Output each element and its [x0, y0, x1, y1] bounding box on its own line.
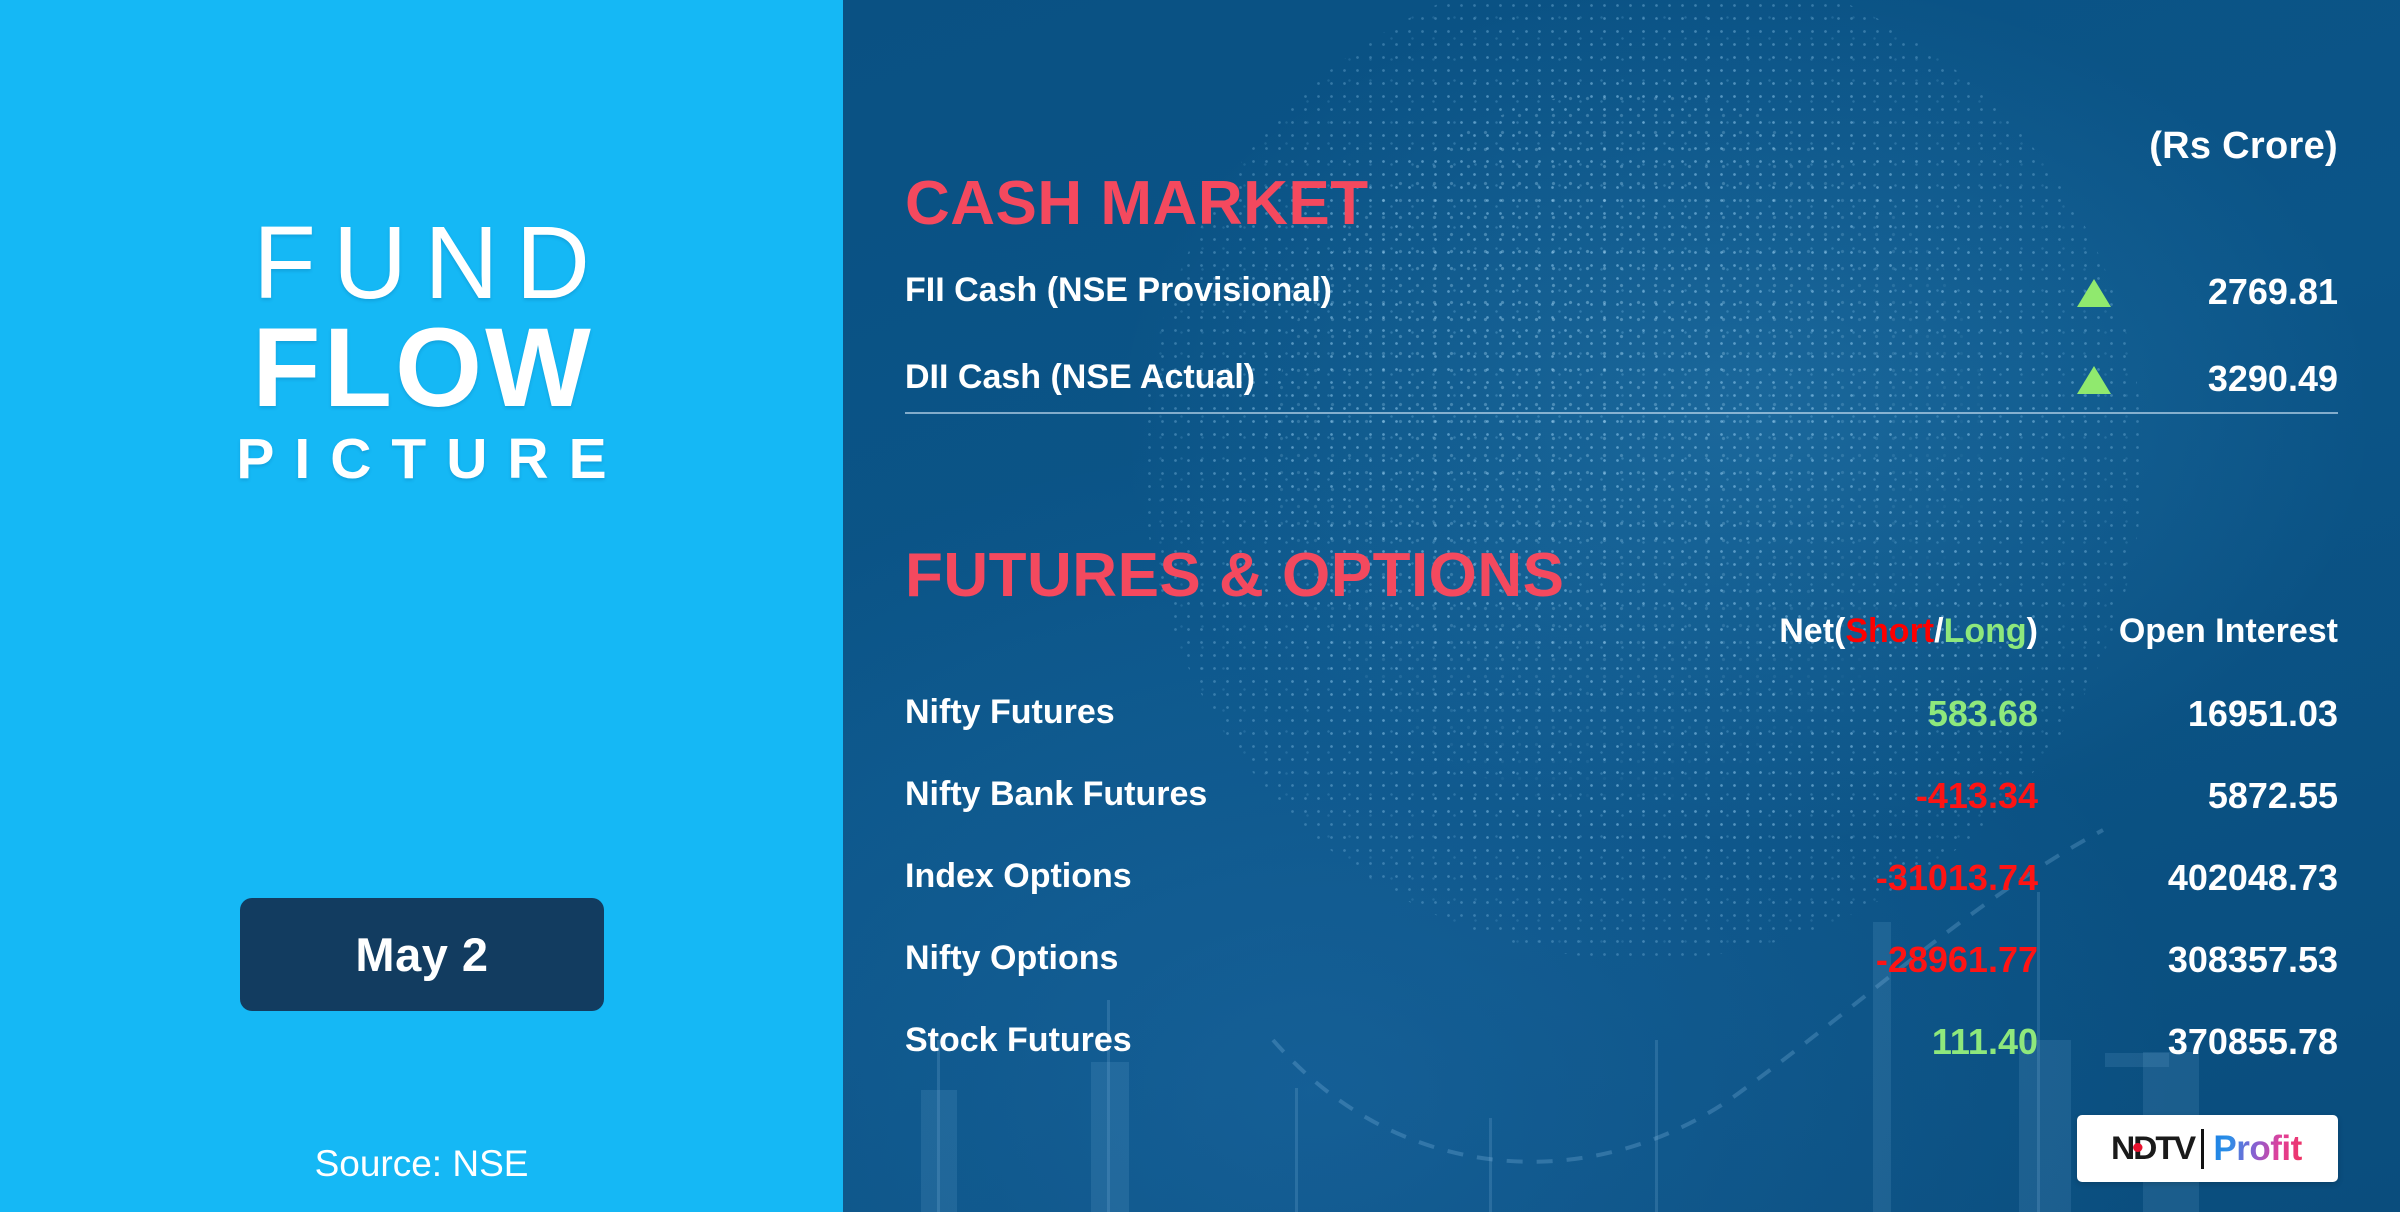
fno-row-net: -413.34	[1916, 775, 2038, 817]
cash-market-heading: CASH MARKET	[905, 168, 1369, 239]
fno-row-open-interest: 308357.53	[2168, 939, 2338, 981]
futures-options-heading: FUTURES & OPTIONS	[905, 540, 1565, 611]
fund-flow-picture-logo: FUND FLOW PICTURE	[0, 210, 843, 488]
fno-row-net: -31013.74	[1876, 857, 2038, 899]
logo-line-picture: PICTURE	[0, 431, 843, 488]
triangle-up-icon	[2077, 366, 2111, 394]
table-row: Nifty Bank Futures -413.34 5872.55	[905, 775, 2338, 823]
logo-line-fund: FUND	[0, 210, 843, 315]
table-row: Nifty Futures 583.68 16951.03	[905, 693, 2338, 741]
net-slash: /	[1934, 612, 1943, 650]
table-row: Nifty Options -28961.77 308357.53	[905, 939, 2338, 987]
logo-line-flow: FLOW	[0, 311, 843, 425]
fno-row-label: Stock Futures	[905, 1021, 1132, 1060]
cash-row-label: DII Cash (NSE Actual)	[905, 358, 1255, 397]
net-prefix: Net(	[1779, 612, 1845, 650]
fno-row-open-interest: 16951.03	[2188, 693, 2338, 735]
section-divider	[905, 412, 2338, 414]
profit-wordmark: Profit	[2213, 1129, 2301, 1169]
ndtv-wordmark: NDTV	[2111, 1130, 2194, 1167]
left-branding-panel: FUND FLOW PICTURE May 2 Source: NSE	[0, 0, 843, 1212]
table-row: FII Cash (NSE Provisional) 2769.81	[905, 271, 2338, 319]
cash-row-value: 2769.81	[2208, 271, 2338, 313]
data-panel: (Rs Crore) CASH MARKET FII Cash (NSE Pro…	[843, 0, 2400, 1212]
cash-row-label: FII Cash (NSE Provisional)	[905, 271, 1332, 310]
net-suffix: )	[2027, 612, 2038, 650]
units-note: (Rs Crore)	[2149, 125, 2338, 168]
table-row: Index Options -31013.74 402048.73	[905, 857, 2338, 905]
column-header-net: Net(Short/Long)	[1779, 612, 2038, 651]
logo-divider	[2201, 1129, 2204, 1169]
table-row: DII Cash (NSE Actual) 3290.49	[905, 358, 2338, 406]
fno-row-net: 111.40	[1932, 1021, 2038, 1063]
date-badge: May 2	[240, 898, 604, 1011]
ndtv-text: NDTV	[2111, 1130, 2194, 1166]
fno-row-label: Nifty Futures	[905, 693, 1115, 732]
table-header-row: Net(Short/Long) Open Interest	[905, 612, 2338, 658]
fno-row-open-interest: 370855.78	[2168, 1021, 2338, 1063]
fno-row-label: Nifty Options	[905, 939, 1118, 978]
fno-row-open-interest: 402048.73	[2168, 857, 2338, 899]
fno-row-net: -28961.77	[1876, 939, 2038, 981]
ndtv-profit-logo: NDTV Profit	[2077, 1115, 2338, 1182]
triangle-up-icon	[2077, 279, 2111, 307]
fno-row-open-interest: 5872.55	[2208, 775, 2338, 817]
table-row: Stock Futures 111.40 370855.78	[905, 1021, 2338, 1069]
fno-row-label: Nifty Bank Futures	[905, 775, 1207, 814]
column-header-open-interest: Open Interest	[2119, 612, 2338, 651]
fno-row-label: Index Options	[905, 857, 1132, 896]
net-short-word: Short	[1845, 612, 1934, 650]
source-label: Source: NSE	[0, 1143, 843, 1185]
net-long-word: Long	[1944, 612, 2027, 650]
cash-row-value: 3290.49	[2208, 358, 2338, 400]
fno-row-net: 583.68	[1928, 693, 2038, 735]
fund-flow-picture-graphic: FUND FLOW PICTURE May 2 Source: NSE (Rs …	[0, 0, 2400, 1212]
